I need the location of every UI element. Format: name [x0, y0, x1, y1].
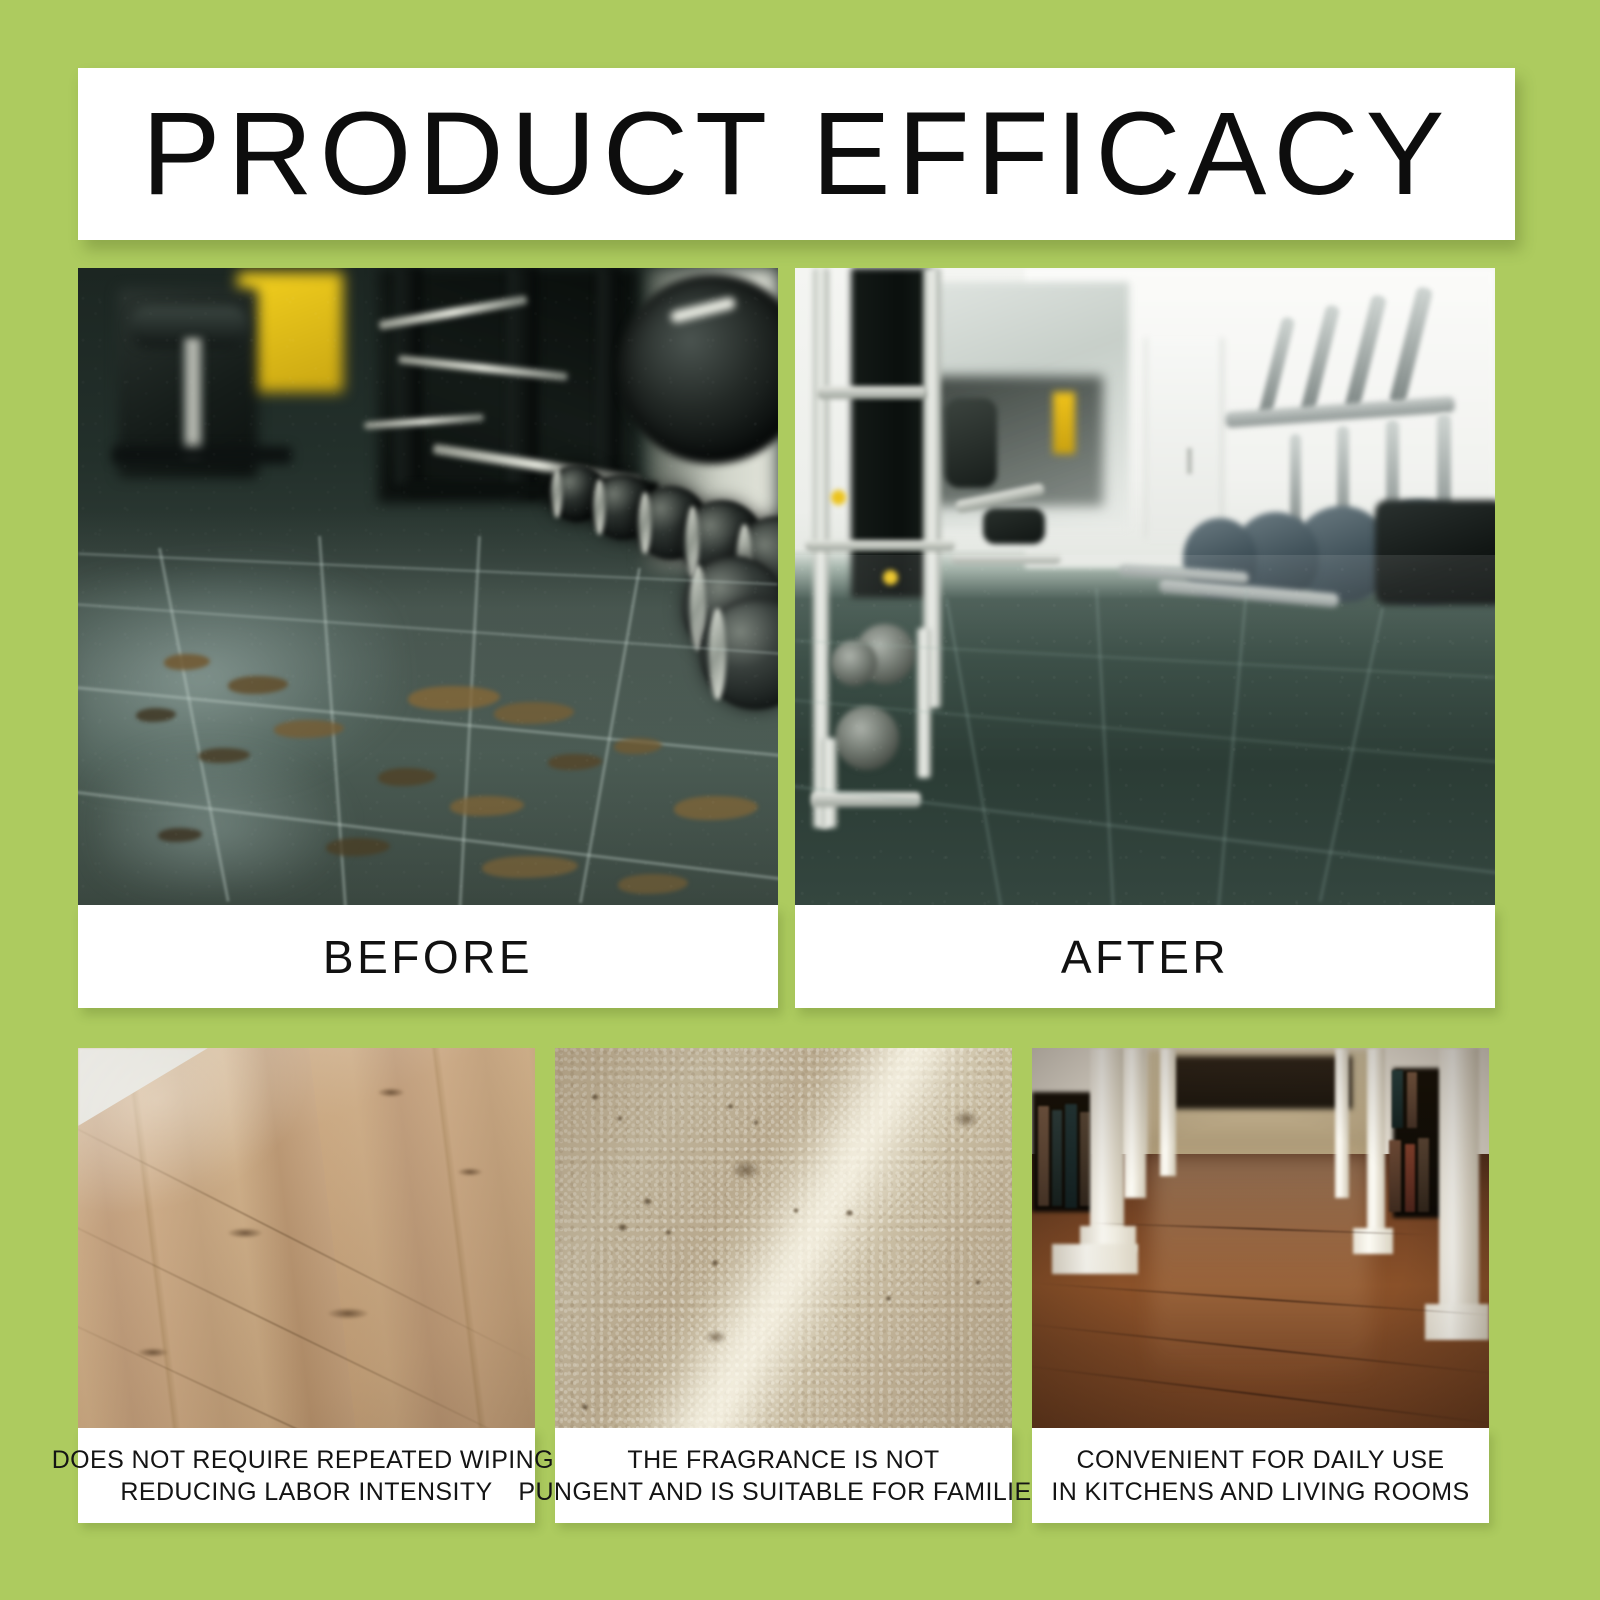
benefit-caption-label: THE FRAGRANCE IS NOT PUNGENT AND IS SUIT…	[518, 1444, 1048, 1508]
lint-tuft	[953, 1110, 979, 1128]
debris-speck	[727, 1104, 734, 1109]
benefit-caption-bar: THE FRAGRANCE IS NOT PUNGENT AND IS SUIT…	[555, 1428, 1012, 1523]
before-caption-label: BEFORE	[323, 930, 533, 984]
caption-line: PUNGENT AND IS SUITABLE FOR FAMILIES	[518, 1476, 1048, 1508]
benefit-caption-label: CONVENIENT FOR DAILY USE IN KITCHENS AND…	[1051, 1444, 1469, 1508]
oak-floor-photo	[78, 1048, 535, 1428]
benefit-card-mild-fragrance: THE FRAGRANCE IS NOT PUNGENT AND IS SUIT…	[555, 1048, 1012, 1523]
yellow-post-icon	[1053, 392, 1075, 454]
debris-speck	[885, 1296, 892, 1301]
caption-line: THE FRAGRANCE IS NOT	[518, 1444, 1048, 1476]
hallway-vignette	[1032, 1048, 1489, 1428]
debris-speck	[753, 1120, 759, 1125]
benefit-card-no-repeat-wiping: DOES NOT REQUIRE REPEATED WIPING, REDUCI…	[78, 1048, 535, 1523]
barbell-icon	[817, 386, 927, 399]
after-caption-label: AFTER	[1061, 930, 1229, 984]
debris-speck	[581, 1404, 589, 1410]
debris-speck	[665, 1230, 672, 1235]
gym-machine-icon	[945, 398, 997, 488]
wood-knot	[328, 1308, 368, 1319]
benefit-caption-bar: CONVENIENT FOR DAILY USE IN KITCHENS AND…	[1032, 1428, 1489, 1523]
benefit-caption-label: DOES NOT REQUIRE REPEATED WIPING, REDUCI…	[52, 1444, 562, 1508]
yellow-marker-icon	[831, 490, 846, 505]
debris-speck	[643, 1198, 652, 1205]
lint-tuft	[705, 1330, 727, 1344]
wood-knot	[378, 1088, 404, 1097]
wood-knot	[458, 1168, 482, 1176]
caption-line: IN KITCHENS AND LIVING ROOMS	[1051, 1476, 1469, 1508]
door-handle-icon	[1187, 448, 1192, 474]
benefit-caption-bar: DOES NOT REQUIRE REPEATED WIPING, REDUCI…	[78, 1428, 535, 1523]
carpet-shadow-overlay	[555, 1048, 1012, 1428]
debris-speck	[845, 1210, 854, 1216]
floor-grain-texture	[78, 268, 778, 905]
door-icon	[1145, 338, 1223, 538]
debris-speck	[711, 1260, 719, 1266]
bench-seat-icon	[983, 508, 1045, 544]
wood-knot	[228, 1228, 262, 1238]
barbell-icon	[805, 540, 955, 551]
debris-speck	[975, 1280, 981, 1285]
debris-speck	[591, 1094, 599, 1100]
clean-floor-speckle	[795, 555, 1495, 905]
carpet-photo	[555, 1048, 1012, 1428]
lint-tuft	[731, 1160, 761, 1180]
debris-speck	[617, 1224, 628, 1231]
page-title-bar: PRODUCT EFFICACY	[78, 68, 1515, 240]
hallway-photo	[1032, 1048, 1489, 1428]
caption-line: DOES NOT REQUIRE REPEATED WIPING,	[52, 1444, 562, 1476]
benefit-card-daily-use: CONVENIENT FOR DAILY USE IN KITCHENS AND…	[1032, 1048, 1489, 1523]
comparison-card-before: BEFORE	[78, 268, 778, 1008]
before-caption-bar: BEFORE	[78, 905, 778, 1008]
before-photo	[78, 268, 778, 905]
debris-speck	[617, 1116, 623, 1121]
after-caption-bar: AFTER	[795, 905, 1495, 1008]
after-photo	[795, 268, 1495, 905]
page-title: PRODUCT EFFICACY	[142, 95, 1452, 213]
wood-knot	[138, 1348, 168, 1357]
comparison-card-after: AFTER	[795, 268, 1495, 1008]
debris-speck	[793, 1208, 799, 1213]
caption-line: CONVENIENT FOR DAILY USE	[1051, 1444, 1469, 1476]
caption-line: REDUCING LABOR INTENSITY	[52, 1476, 562, 1508]
